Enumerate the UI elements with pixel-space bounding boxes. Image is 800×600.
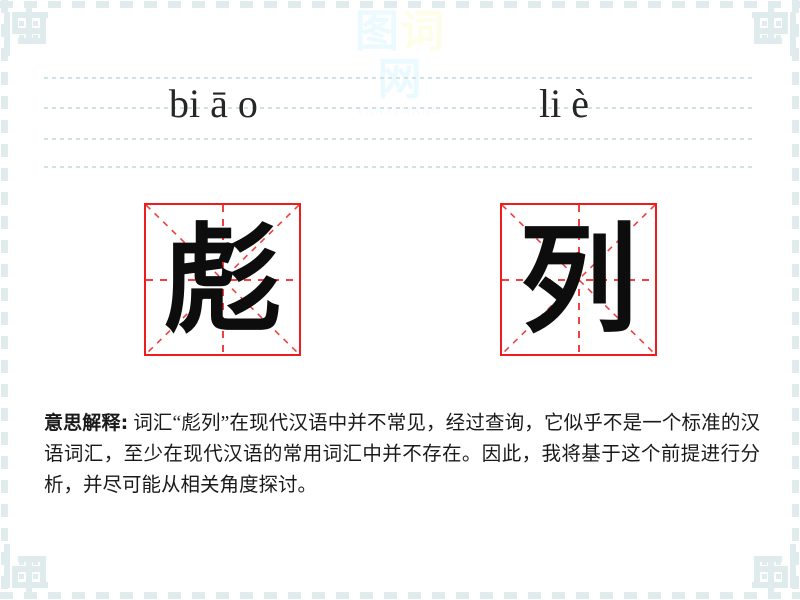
character-grid-box-1: 彪 xyxy=(144,203,301,356)
pinyin-rule-line-4 xyxy=(44,166,756,168)
pinyin-rule-line-3 xyxy=(44,138,756,140)
watermark-glyph-1: 图 xyxy=(355,6,400,57)
watermark-glyph-2: 词 xyxy=(400,6,445,57)
hanzi-character-2: 列 xyxy=(502,205,655,354)
page-border-right xyxy=(792,0,799,600)
corner-ornament-bottom-left xyxy=(4,544,56,596)
explanation-label: 意思解释: xyxy=(44,412,128,434)
corner-ornament-top-left xyxy=(4,4,56,56)
explanation-body: 词汇“彪列”在现代汉语中并不常见，经过查询，它似乎不是一个标准的汉语词汇，至少在… xyxy=(44,413,760,496)
hanzi-character-1: 彪 xyxy=(146,205,299,354)
pinyin-four-line-grid: bi ā o li è xyxy=(44,77,756,167)
corner-ornament-bottom-right xyxy=(744,544,796,596)
pinyin-rule-line-1 xyxy=(44,77,756,79)
page-border-top xyxy=(0,1,800,8)
page-border-left xyxy=(1,0,8,600)
corner-ornament-top-right xyxy=(744,4,796,56)
page-border-bottom xyxy=(0,592,800,599)
worksheet-page: 图词网 FANYIWANG bi ā o li è 彪 xyxy=(0,0,800,600)
pinyin-rule-line-2 xyxy=(44,107,756,109)
site-watermark-logo: 图词网 FANYIWANG xyxy=(336,8,464,80)
pinyin-syllable-2: li è xyxy=(539,73,589,135)
pinyin-syllable-1: bi ā o xyxy=(169,73,258,135)
character-grid-box-2: 列 xyxy=(500,203,657,356)
meaning-explanation-block: 意思解释: 词汇“彪列”在现代汉语中并不常见，经过查询，它似乎不是一个标准的汉语… xyxy=(44,408,760,501)
